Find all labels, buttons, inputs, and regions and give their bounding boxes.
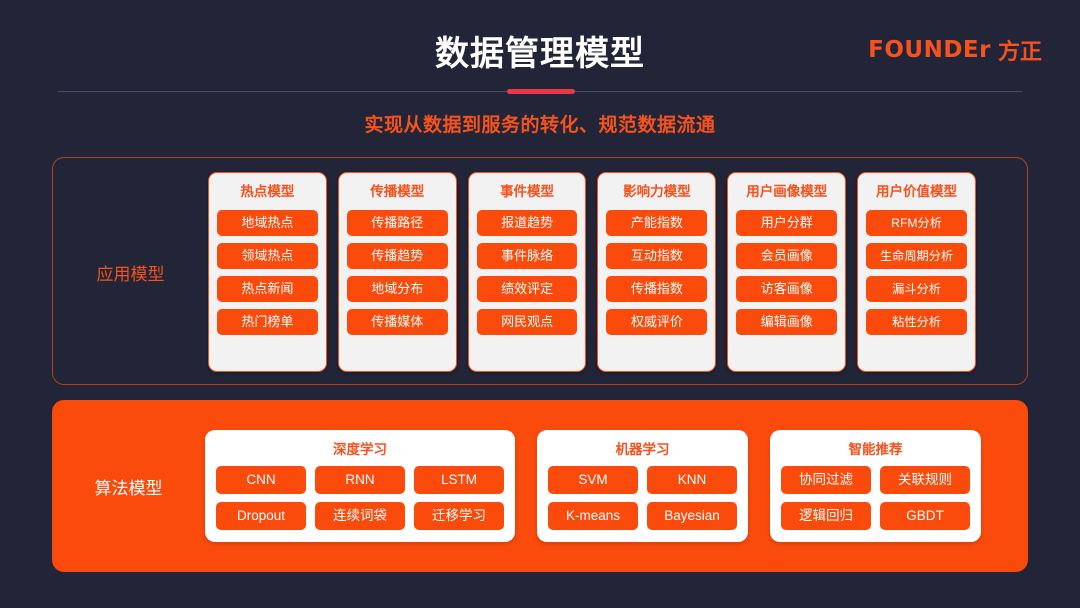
algorithm-pill-row: CNN RNN LSTM <box>216 466 504 494</box>
algorithm-model-block: 算法模型 深度学习 CNN RNN LSTM Dropout 连续词袋 迁移学习 <box>52 400 1028 572</box>
algorithm-pill-grid: 协同过滤 关联规则 逻辑回归 GBDT <box>781 466 970 530</box>
model-item[interactable]: 热点新闻 <box>217 276 318 302</box>
model-item[interactable]: 热门榜单 <box>217 309 318 335</box>
algorithm-item[interactable]: 关联规则 <box>880 466 970 494</box>
model-item[interactable]: 访客画像 <box>736 276 837 302</box>
model-item[interactable]: 生命周期分析 <box>866 243 967 269</box>
slide-root: 数据管理模型 FOUNDEr 方正 实现从数据到服务的转化、规范数据流通 应用模… <box>0 0 1080 608</box>
model-item[interactable]: 事件脉络 <box>477 243 578 269</box>
algorithm-model-label: 算法模型 <box>52 474 205 499</box>
algorithm-item[interactable]: Dropout <box>216 502 306 530</box>
algorithm-pill-grid: SVM KNN K-means Bayesian <box>548 466 737 530</box>
slide-header: 数据管理模型 FOUNDEr 方正 <box>0 0 1080 92</box>
algorithm-item[interactable]: 迁移学习 <box>414 502 504 530</box>
model-item[interactable]: 传播指数 <box>606 276 707 302</box>
model-item[interactable]: 地域热点 <box>217 210 318 236</box>
model-item[interactable]: 网民观点 <box>477 309 578 335</box>
model-item[interactable]: 传播媒体 <box>347 309 448 335</box>
model-item[interactable]: 粘性分析 <box>866 309 967 335</box>
model-item[interactable]: 互动指数 <box>606 243 707 269</box>
model-item[interactable]: 报道趋势 <box>477 210 578 236</box>
algorithm-card-deep-learning[interactable]: 深度学习 CNN RNN LSTM Dropout 连续词袋 迁移学习 <box>205 430 515 542</box>
model-card-influence[interactable]: 影响力模型 产能指数 互动指数 传播指数 权威评价 <box>597 172 716 372</box>
model-card-title: 热点模型 <box>217 182 318 202</box>
brand-logo-cn: 方正 <box>998 34 1042 66</box>
algorithm-item[interactable]: CNN <box>216 466 306 494</box>
algorithm-item[interactable]: RNN <box>315 466 405 494</box>
model-item[interactable]: 绩效评定 <box>477 276 578 302</box>
algorithm-card-title: 机器学习 <box>548 439 737 461</box>
model-item[interactable]: 产能指数 <box>606 210 707 236</box>
algorithm-card-title: 智能推荐 <box>781 439 970 461</box>
algorithm-model-groups: 深度学习 CNN RNN LSTM Dropout 连续词袋 迁移学习 机器学习 <box>205 430 1029 542</box>
model-card-hotspot[interactable]: 热点模型 地域热点 领域热点 热点新闻 热门榜单 <box>208 172 327 372</box>
algorithm-item[interactable]: GBDT <box>880 502 970 530</box>
algorithm-pill-row: 逻辑回归 GBDT <box>781 502 970 530</box>
model-item[interactable]: 编辑画像 <box>736 309 837 335</box>
algorithm-item[interactable]: SVM <box>548 466 638 494</box>
algorithm-item[interactable]: 协同过滤 <box>781 466 871 494</box>
model-item[interactable]: 领域热点 <box>217 243 318 269</box>
model-item[interactable]: RFM分析 <box>866 210 967 236</box>
page-subtitle: 实现从数据到服务的转化、规范数据流通 <box>0 110 1080 137</box>
algorithm-pill-row: Dropout 连续词袋 迁移学习 <box>216 502 504 530</box>
model-item[interactable]: 会员画像 <box>736 243 837 269</box>
application-model-columns: 热点模型 地域热点 领域热点 热点新闻 热门榜单 传播模型 传播路径 传播趋势 … <box>208 172 1029 372</box>
algorithm-card-recommendation[interactable]: 智能推荐 协同过滤 关联规则 逻辑回归 GBDT <box>770 430 981 542</box>
model-item[interactable]: 地域分布 <box>347 276 448 302</box>
brand-logo: FOUNDEr 方正 <box>868 34 1042 66</box>
model-card-propagation[interactable]: 传播模型 传播路径 传播趋势 地域分布 传播媒体 <box>338 172 457 372</box>
model-card-user-value[interactable]: 用户价值模型 RFM分析 生命周期分析 漏斗分析 粘性分析 <box>857 172 976 372</box>
algorithm-pill-row: SVM KNN <box>548 466 737 494</box>
algorithm-card-title: 深度学习 <box>216 439 504 461</box>
model-item[interactable]: 漏斗分析 <box>866 276 967 302</box>
application-model-label: 应用模型 <box>53 158 208 386</box>
model-item[interactable]: 用户分群 <box>736 210 837 236</box>
algorithm-item[interactable]: Bayesian <box>647 502 737 530</box>
model-card-title: 影响力模型 <box>606 182 707 202</box>
algorithm-item[interactable]: KNN <box>647 466 737 494</box>
model-card-user-profile[interactable]: 用户画像模型 用户分群 会员画像 访客画像 编辑画像 <box>727 172 846 372</box>
algorithm-item[interactable]: LSTM <box>414 466 504 494</box>
model-card-event[interactable]: 事件模型 报道趋势 事件脉络 绩效评定 网民观点 <box>468 172 587 372</box>
model-card-title: 用户画像模型 <box>736 182 837 202</box>
algorithm-pill-row: 协同过滤 关联规则 <box>781 466 970 494</box>
algorithm-pill-grid: CNN RNN LSTM Dropout 连续词袋 迁移学习 <box>216 466 504 530</box>
brand-logo-latin: FOUNDEr <box>868 37 991 63</box>
application-model-panel: 应用模型 热点模型 地域热点 领域热点 热点新闻 热门榜单 传播模型 传播路径 … <box>52 157 1028 385</box>
algorithm-pill-row: K-means Bayesian <box>548 502 737 530</box>
model-item[interactable]: 权威评价 <box>606 309 707 335</box>
title-accent-bar <box>507 89 575 94</box>
model-card-title: 传播模型 <box>347 182 448 202</box>
model-item[interactable]: 传播路径 <box>347 210 448 236</box>
algorithm-item[interactable]: K-means <box>548 502 638 530</box>
model-card-title: 事件模型 <box>477 182 578 202</box>
algorithm-item[interactable]: 逻辑回归 <box>781 502 871 530</box>
model-item[interactable]: 传播趋势 <box>347 243 448 269</box>
algorithm-card-machine-learning[interactable]: 机器学习 SVM KNN K-means Bayesian <box>537 430 748 542</box>
algorithm-item[interactable]: 连续词袋 <box>315 502 405 530</box>
model-card-title: 用户价值模型 <box>866 182 967 202</box>
